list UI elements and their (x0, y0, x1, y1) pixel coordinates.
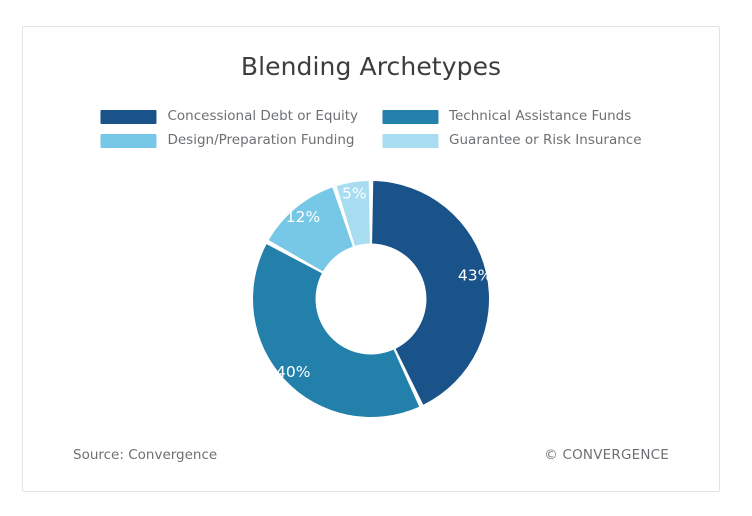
copyright-label: © CONVERGENCE (544, 447, 669, 463)
page-title: Blending Archetypes (23, 53, 719, 81)
donut-slice-label: 12% (286, 208, 320, 226)
donut-slice-label: 40% (276, 363, 310, 381)
legend-swatch-icon (382, 110, 438, 124)
legend-swatch-icon (100, 134, 156, 148)
legend-item-label: Guarantee or Risk Insurance (449, 134, 641, 148)
chart-legend: Concessional Debt or Equity Technical As… (100, 108, 641, 149)
legend-item-label: Technical Assistance Funds (449, 110, 631, 124)
legend-item-technical-assistance-funds[interactable]: Technical Assistance Funds (382, 108, 641, 125)
donut-slice[interactable] (253, 244, 419, 417)
source-label: Source: Convergence (73, 447, 217, 463)
donut-chart-svg: 43%40%12%5% (246, 174, 496, 424)
legend-item-guarantee-or-risk-insurance[interactable]: Guarantee or Risk Insurance (382, 132, 641, 149)
donut-slice-label: 43% (458, 267, 492, 285)
chart-footer: Source: Convergence © CONVERGENCE (73, 447, 669, 463)
legend-item-label: Concessional Debt or Equity (167, 110, 358, 124)
donut-slice-label: 5% (342, 185, 367, 203)
chart-card: Blending Archetypes Concessional Debt or… (22, 26, 720, 492)
donut-chart: 43%40%12%5% (23, 174, 719, 424)
legend-swatch-icon (382, 134, 438, 148)
legend-swatch-icon (100, 110, 156, 124)
legend-item-design-preparation-funding[interactable]: Design/Preparation Funding (100, 132, 358, 149)
legend-item-concessional-debt-or-equity[interactable]: Concessional Debt or Equity (100, 108, 358, 125)
legend-item-label: Design/Preparation Funding (167, 134, 354, 148)
